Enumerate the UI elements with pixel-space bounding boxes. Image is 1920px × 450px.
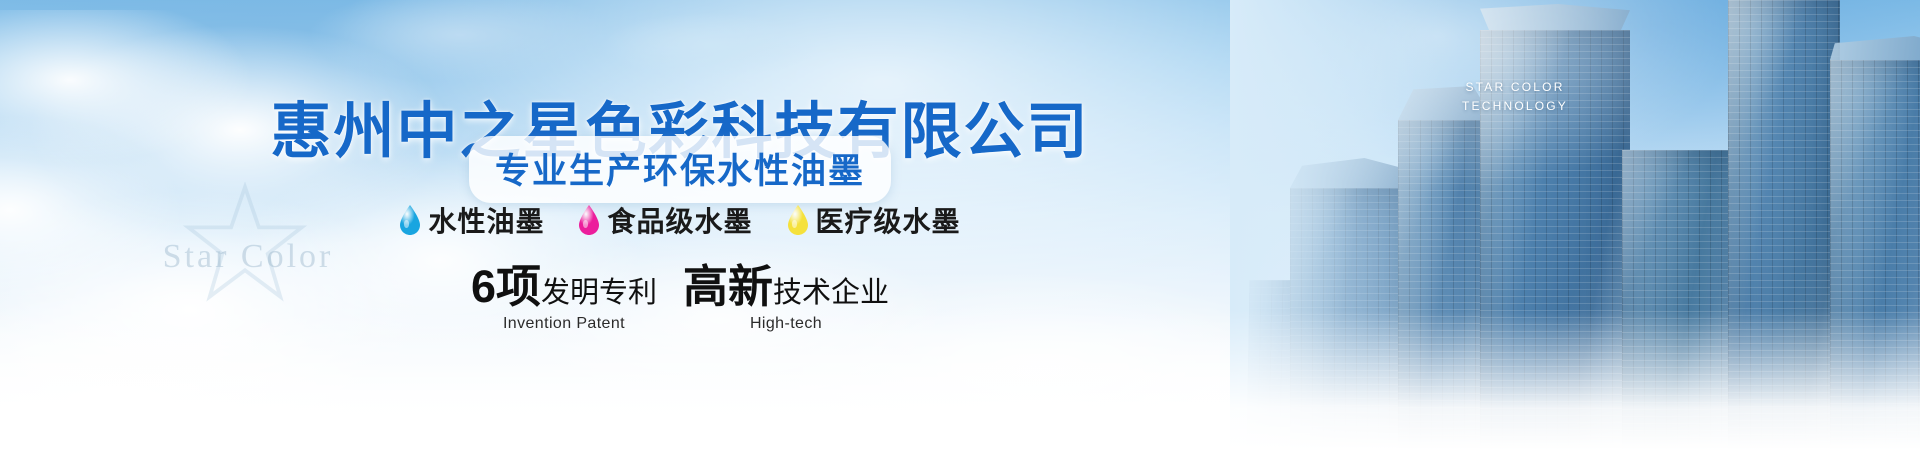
product-feature-list: 水性油墨食品级水墨医疗级水墨 (0, 200, 1360, 240)
badge-suffix: 发明专利 (541, 277, 657, 309)
badge-suffix: 技术企业 (773, 277, 889, 309)
badge-english-label: Invention Patent (471, 315, 657, 333)
tagline-pill: 专业生产环保水性油墨 (469, 136, 891, 203)
brand-mark-line-1: STAR COLOR (1455, 78, 1575, 97)
promotional-banner: STAR COLOR TECHNOLOGY Star Color 惠州中之星色彩… (0, 0, 1920, 450)
badge-highlight: 6项 (471, 261, 541, 312)
certification-badge-list: 6项发明专利Invention Patent高新技术企业High-tech (0, 262, 1360, 333)
feature-label: 水性油墨 (428, 200, 544, 240)
badge-highlight: 高新 (683, 261, 773, 312)
certification-badge: 高新技术企业High-tech (683, 262, 889, 333)
badge-english-label: High-tech (683, 315, 889, 333)
feature-label: 医疗级水墨 (816, 200, 961, 240)
badge-main-text: 6项发明专利 (471, 262, 657, 312)
brand-mark-star-color-technology: STAR COLOR TECHNOLOGY (1455, 78, 1575, 116)
building-4-roof (1480, 4, 1630, 30)
feature-item: 食品级水墨 (578, 200, 752, 240)
tagline-pill-container: 专业生产环保水性油墨 (0, 136, 1360, 203)
feature-label: 食品级水墨 (607, 200, 752, 240)
brand-mark-line-2: TECHNOLOGY (1455, 97, 1575, 116)
droplet-icon (578, 205, 600, 235)
feature-item: 医疗级水墨 (787, 200, 961, 240)
badge-main-text: 高新技术企业 (683, 262, 889, 312)
building-7-roof (1830, 36, 1920, 60)
feature-item: 水性油墨 (399, 200, 544, 240)
droplet-icon (399, 205, 421, 235)
banner-content: 惠州中之星色彩科技有限公司 专业生产环保水性油墨 水性油墨食品级水墨医疗级水墨 … (0, 0, 1360, 450)
certification-badge: 6项发明专利Invention Patent (471, 262, 657, 333)
droplet-icon (787, 205, 809, 235)
